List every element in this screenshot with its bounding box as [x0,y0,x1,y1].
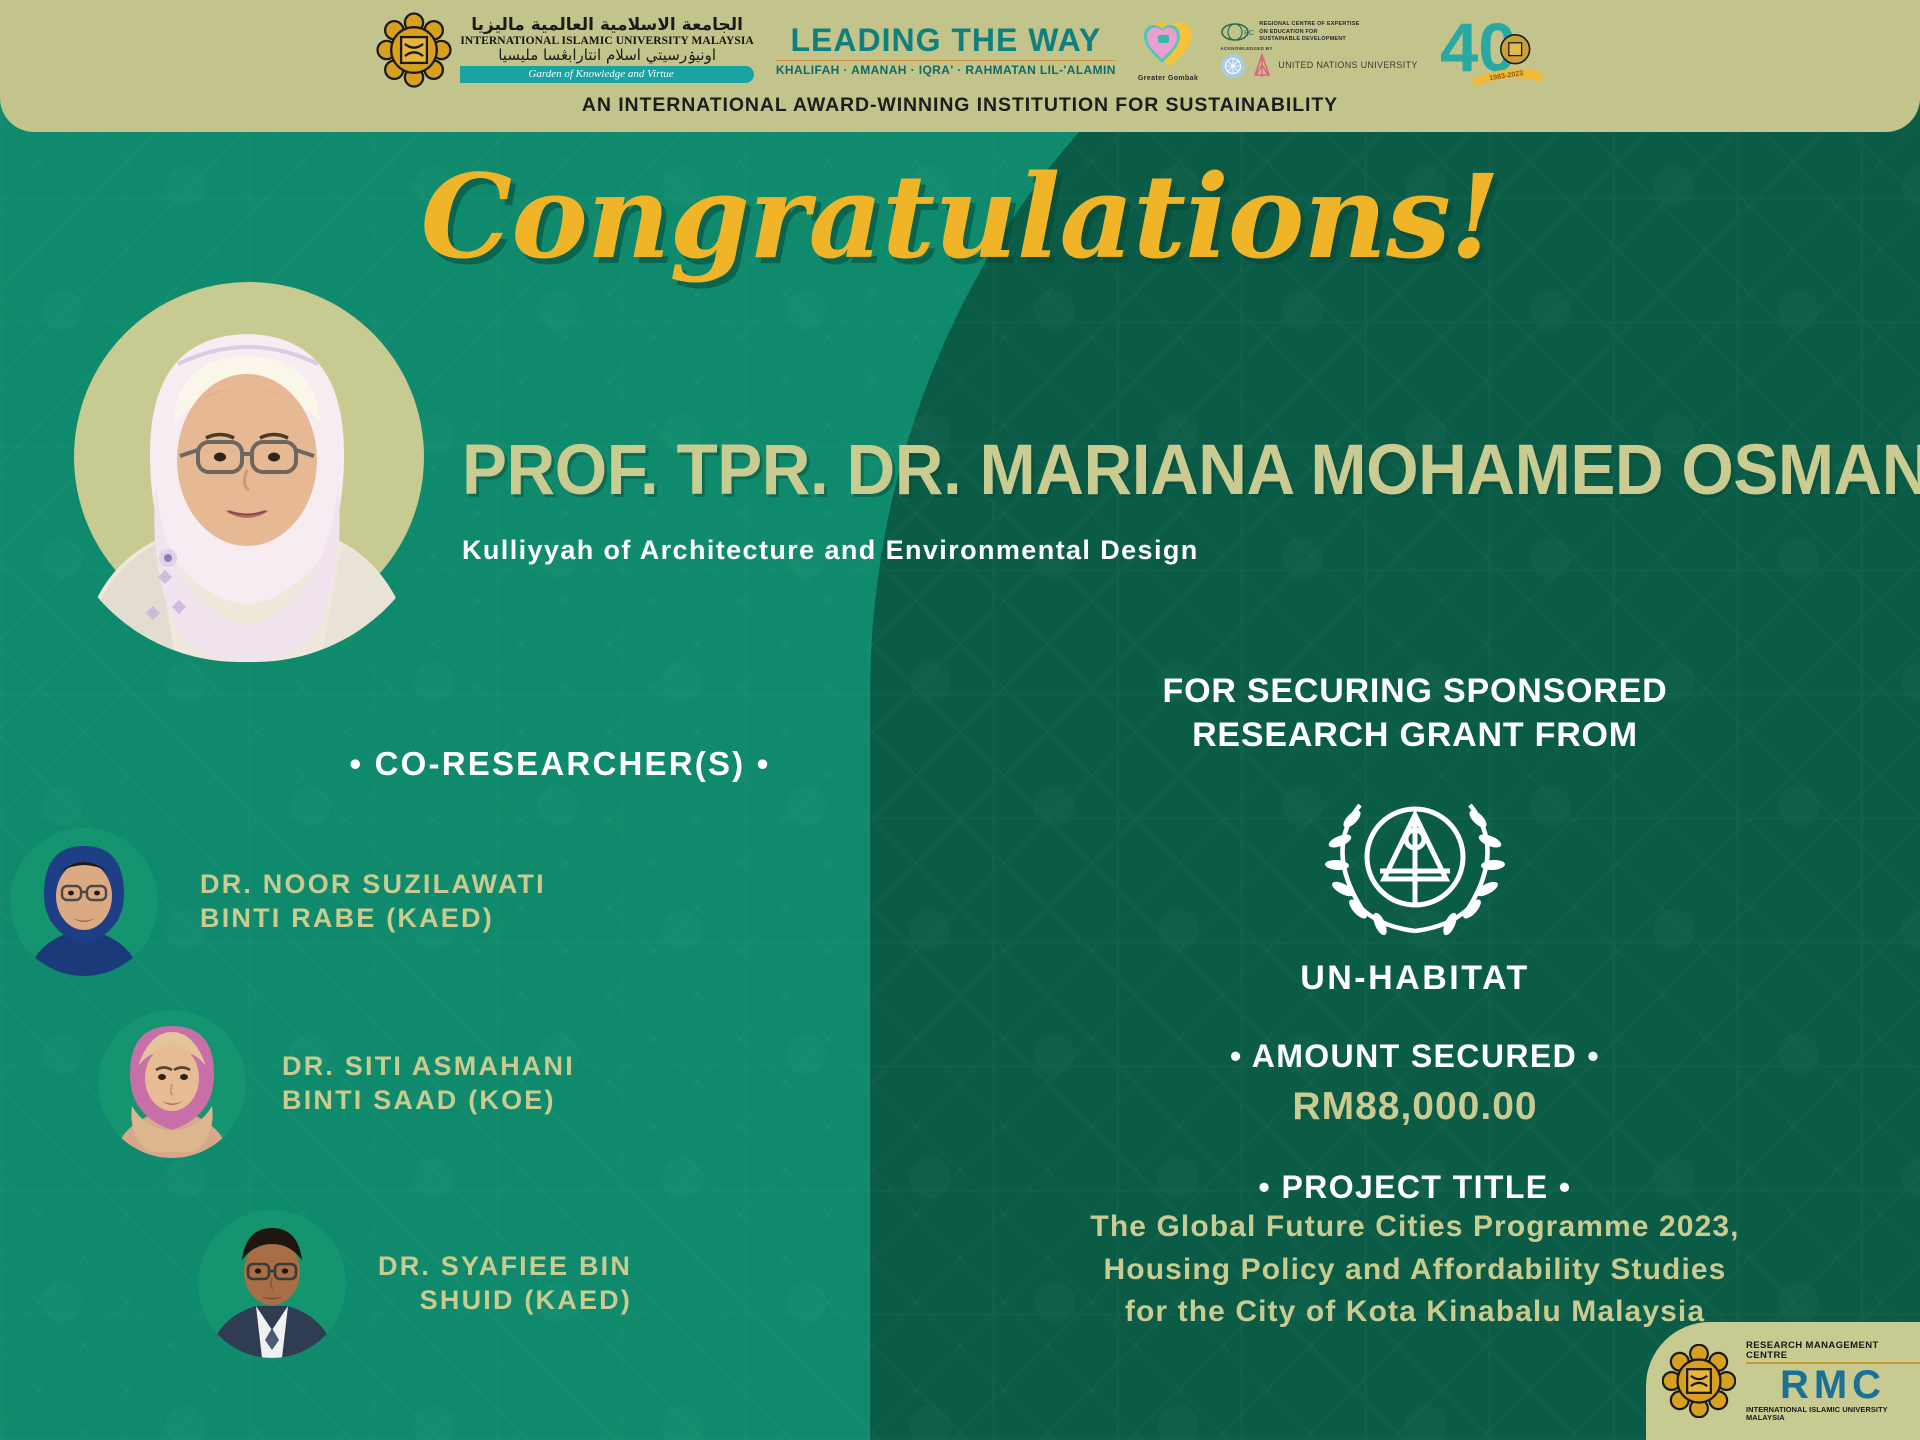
co-researcher-name-line1: DR. SYAFIEE BIN [378,1250,632,1284]
rce-line2: ON EDUCATION FOR [1259,29,1359,36]
co-researcher-name-line2: BINTI RABE (KAED) [200,902,546,936]
project-title-line1: The Global Future Cities Programme 2023, [930,1206,1900,1249]
rce-row: RCE REGIONAL CENTRE OF EXPERTISE ON EDUC… [1220,21,1359,43]
project-label: • PROJECT TITLE • [930,1169,1900,1206]
un-habitat-logo: UN-HABITAT [930,779,1900,998]
iium-logo: الجامعة الاسلامية العالمية ماليزيا INTER… [376,12,753,88]
united-nations-icon [1220,53,1246,79]
greater-gombak-logo: Greater Gombak [1138,19,1198,82]
leading-the-way-logo: LEADING THE WAY KHALIFAH · AMANAH · IQRA… [776,24,1116,76]
co-researcher-item: DR. SYAFIEE BIN SHUID (KAED) [198,1210,632,1358]
co-researcher-name-line2: SHUID (KAED) [378,1284,632,1318]
iium-wordmark: الجامعة الاسلامية العالمية ماليزيا INTER… [460,17,753,84]
leading-the-way-title: LEADING THE WAY [790,24,1101,56]
rce-unu-logo: RCE REGIONAL CENTRE OF EXPERTISE ON EDUC… [1220,21,1417,78]
for-securing-heading: FOR SECURING SPONSORED RESEARCH GRANT FR… [930,670,1900,757]
amount-block: • AMOUNT SECURED • RM88,000.00 [930,1038,1900,1129]
project-title-line2: Housing Policy and Affordability Studies [930,1249,1900,1292]
rmc-university-name: INTERNATIONAL ISLAMIC UNIVERSITY MALAYSI… [1746,1406,1920,1421]
awardee-name: PROF. TPR. DR. MARIANA MOHAMED OSMAN [462,430,1792,511]
grant-details-column: FOR SECURING SPONSORED RESEARCH GRANT FR… [930,670,1900,1334]
rmc-wordmark: RESEARCH MANAGEMENT CENTRE RMC INTERNATI… [1746,1341,1920,1421]
co-researcher-item: DR. NOOR SUZILAWATI BINTI RABE (KAED) [10,828,546,976]
leading-the-way-subtitle: KHALIFAH · AMANAH · IQRA' · RAHMATAN LIL… [776,60,1116,76]
rmc-emblem-icon [1662,1344,1736,1418]
co-researcher-photo-illustration [198,1210,346,1358]
rce-text: REGIONAL CENTRE OF EXPERTISE ON EDUCATIO… [1259,21,1359,43]
awardee-kulliyyah: Kulliyyah of Architecture and Environmen… [462,535,1862,566]
rce-icon: RCE [1220,21,1254,43]
iium-jawi-name: اونيۏرسيتي اسلام انتارابڠسا مليسيا [460,48,753,63]
co-researcher-photo [198,1210,346,1358]
header-band: الجامعة الاسلامية العالمية ماليزيا INTER… [0,0,1920,132]
co-researcher-name-line1: DR. SITI ASMAHANI [282,1050,575,1084]
co-researcher-name: DR. SITI ASMAHANI BINTI SAAD (KOE) [282,1050,575,1118]
awardee-photo [52,272,442,662]
rmc-logo-corner: RESEARCH MANAGEMENT CENTRE RMC INTERNATI… [1646,1322,1920,1440]
rce-acknowledged-label: ACKNOWLEDGED BY [1220,46,1272,51]
amount-label: • AMOUNT SECURED • [930,1038,1900,1075]
svg-text:RCE: RCE [1244,30,1254,37]
co-researcher-photo [10,828,158,976]
unu-label: UNITED NATIONS UNIVERSITY [1278,60,1417,71]
co-researcher-name-line1: DR. NOOR SUZILAWATI [200,868,546,902]
awardee-portrait [52,272,442,662]
gombak-heart-icon [1140,19,1196,73]
un-habitat-wordmark: UN-HABITAT [1300,959,1530,998]
co-researchers-heading: • CO-RESEARCHER(S) • [300,745,820,783]
awardee-name-block: PROF. TPR. DR. MARIANA MOHAMED OSMAN Kul… [462,430,1862,566]
awardee-photo-illustration [52,272,442,662]
co-researcher-item: DR. SITI ASMAHANI BINTI SAAD (KOE) [98,1010,575,1158]
congratulations-poster: الجامعة الاسلامية العالمية ماليزيا INTER… [0,0,1920,1440]
header-logo-row: الجامعة الاسلامية العالمية ماليزيا INTER… [0,0,1920,96]
unu-tree-icon [1251,53,1273,79]
iium-arabic-name: الجامعة الاسلامية العالمية ماليزيا [460,17,753,34]
rmc-acronym: RMC [1780,1366,1886,1404]
iium-motto-ribbon: Garden of Knowledge and Virtue [460,66,753,83]
co-researcher-photo-illustration [10,828,158,976]
for-securing-line2: RESEARCH GRANT FROM [930,714,1900,758]
un-habitat-icon [1310,779,1520,955]
co-researcher-name: DR. NOOR SUZILAWATI BINTI RABE (KAED) [200,868,546,936]
greater-gombak-label: Greater Gombak [1138,75,1198,82]
header-tagline: AN INTERNATIONAL AWARD-WINNING INSTITUTI… [0,94,1920,117]
rmc-full-name: RESEARCH MANAGEMENT CENTRE [1746,1341,1920,1360]
amount-value: RM88,000.00 [930,1085,1900,1129]
co-researcher-photo-illustration [98,1010,246,1158]
congratulations-title: Congratulations! [0,150,1920,285]
co-researcher-name: DR. SYAFIEE BIN SHUID (KAED) [378,1250,632,1318]
project-block: • PROJECT TITLE • The Global Future Citi… [930,1169,1900,1334]
rce-line1: REGIONAL CENTRE OF EXPERTISE [1259,21,1359,28]
unu-row: UNITED NATIONS UNIVERSITY [1220,53,1417,79]
iium-emblem-icon [376,12,452,88]
anniversary-40-logo: 40 1983-2023 [1440,13,1544,87]
rce-line3: SUSTAINABLE DEVELOPMENT [1259,36,1359,43]
co-researcher-name-line2: BINTI SAAD (KOE) [282,1084,575,1118]
for-securing-line1: FOR SECURING SPONSORED [930,670,1900,714]
co-researcher-photo [98,1010,246,1158]
